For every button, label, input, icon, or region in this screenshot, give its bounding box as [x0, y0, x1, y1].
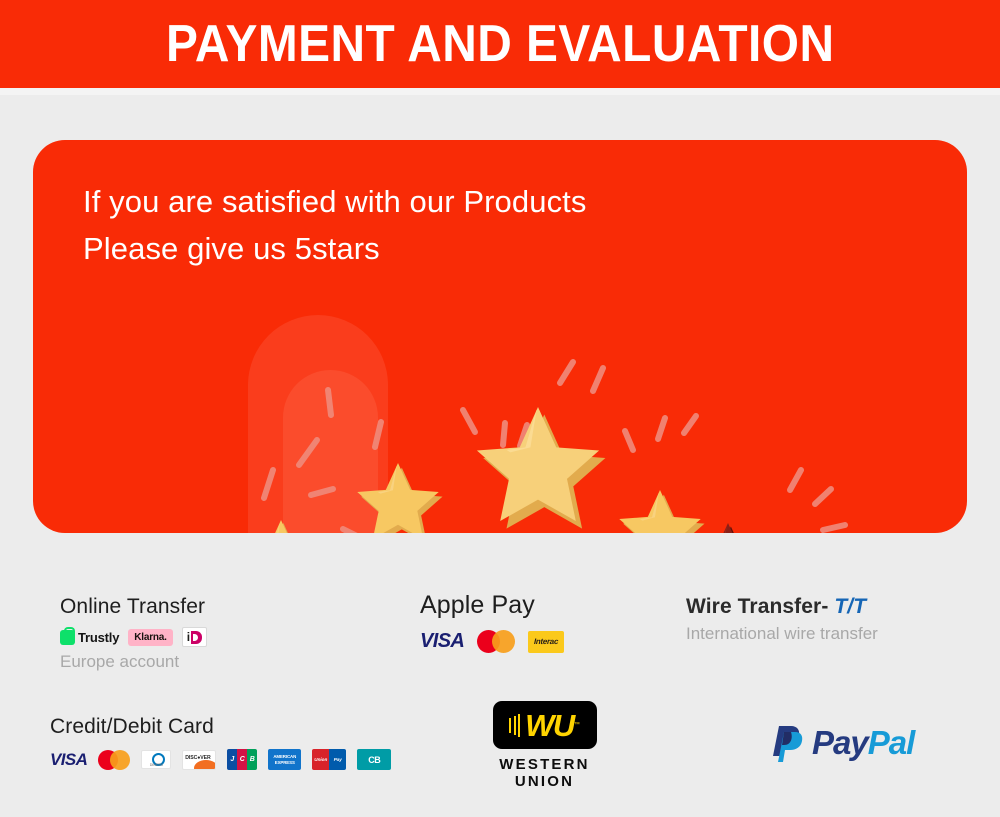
payment-method-credit-debit-card[interactable]: Credit/Debit Card VISA DISC●VER JCB AMER…: [50, 715, 391, 770]
paypal-wordmark: PayPal: [812, 724, 914, 762]
trustly-logo: Trustly: [60, 630, 119, 645]
payment-method-apple-pay[interactable]: Apple Pay VISA Interac: [420, 591, 564, 653]
ideal-logo: i: [182, 627, 207, 647]
western-union-badge: WU ™: [493, 701, 597, 749]
wire-transfer-title-main: Wire Transfer-: [686, 595, 828, 618]
western-union-monogram: WU: [525, 710, 574, 741]
satisfaction-hero-card: If you are satisfied with our Products P…: [33, 140, 967, 533]
discover-logo: DISC●VER: [182, 750, 216, 770]
visa-logo: VISA: [420, 630, 464, 653]
klarna-logo: Klarna.: [128, 629, 173, 646]
payment-method-paypal[interactable]: PayPal: [770, 723, 914, 763]
paypal-monogram-icon: [770, 723, 804, 763]
interac-logo: Interac: [528, 631, 564, 653]
five-star-illustration: [33, 140, 967, 533]
western-union-wordmark: WESTERN UNION: [462, 756, 627, 791]
header-divider: [0, 88, 1000, 95]
star-2: [357, 463, 442, 533]
ideal-letter-i: i: [187, 630, 190, 644]
payment-method-online-transfer[interactable]: Online Transfer Trustly Klarna. i Europe…: [60, 595, 207, 672]
apple-pay-logo-row: VISA Interac: [420, 630, 564, 653]
online-transfer-title: Online Transfer: [60, 595, 207, 619]
mastercard-logo: [477, 630, 515, 653]
visa-logo: VISA: [50, 750, 87, 770]
diners-club-logo: [141, 750, 171, 769]
apple-pay-title: Apple Pay: [420, 591, 564, 620]
unionpay-logo: Union Pay: [312, 749, 346, 770]
trustly-lock-icon: [60, 630, 75, 645]
payment-method-western-union[interactable]: WU ™ WESTERN UNION: [462, 701, 627, 791]
star-5-pressed: [697, 523, 762, 533]
western-union-motion-lines: [509, 714, 520, 737]
online-transfer-logo-row: Trustly Klarna. i: [60, 627, 207, 647]
ideal-letter-d: [191, 631, 202, 644]
american-express-logo: AMERICAN EXPRESS: [268, 749, 301, 770]
star-4: [619, 490, 704, 533]
page-title: PAYMENT AND EVALUATION: [166, 14, 834, 74]
star-3-center: [477, 407, 606, 529]
mastercard-logo: [98, 750, 130, 770]
wire-transfer-title: Wire Transfer- T/T: [686, 595, 878, 619]
wire-transfer-title-accent: T/T: [834, 595, 866, 618]
credit-debit-card-title: Credit/Debit Card: [50, 715, 391, 739]
trustly-wordmark: Trustly: [78, 630, 119, 645]
page-header-banner: PAYMENT AND EVALUATION: [0, 0, 1000, 88]
trademark-symbol: ™: [574, 722, 580, 728]
online-transfer-subtitle: Europe account: [60, 652, 207, 672]
jcb-logo: JCB: [227, 749, 257, 770]
cb-logo: CB: [357, 749, 391, 770]
payment-methods-grid: Online Transfer Trustly Klarna. i Europe…: [0, 575, 1000, 817]
star-1: [252, 520, 313, 533]
payment-method-wire-transfer[interactable]: Wire Transfer- T/T International wire tr…: [686, 595, 878, 644]
credit-debit-card-logo-row: VISA DISC●VER JCB AMERICAN EXPRESS Union…: [50, 749, 391, 770]
wire-transfer-subtitle: International wire transfer: [686, 624, 878, 644]
